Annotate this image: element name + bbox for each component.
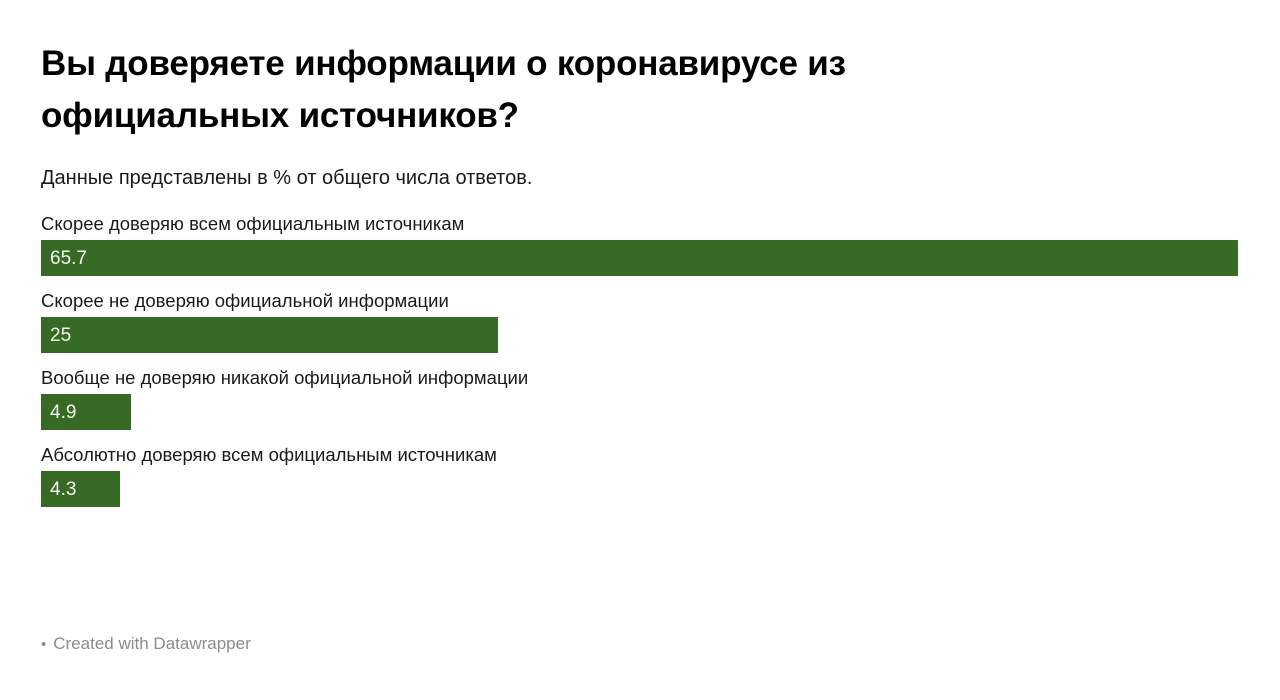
bar-fill[interactable]: 65.7 <box>41 240 1238 276</box>
bar-row: Абсолютно доверяю всем официальным источ… <box>41 442 1239 507</box>
bar-value-label: 65.7 <box>50 249 87 268</box>
bar-series: Скорее доверяю всем официальным источник… <box>41 211 1239 507</box>
bar-track: 4.3 <box>41 471 1239 507</box>
bar-track: 4.9 <box>41 394 1239 430</box>
bar-value-label: 4.3 <box>50 480 76 499</box>
bar-track: 25 <box>41 317 1239 353</box>
bar-category-label: Скорее не доверяю официальной информации <box>41 288 1239 313</box>
bar-category-label: Вообще не доверяю никакой официальной ин… <box>41 365 1239 390</box>
chart-title: Вы доверяете информации о коронавирусе и… <box>41 0 1081 142</box>
bar-value-label: 25 <box>50 326 71 345</box>
bar-category-label: Скорее доверяю всем официальным источник… <box>41 211 1239 236</box>
bar-category-label: Абсолютно доверяю всем официальным источ… <box>41 442 1239 467</box>
chart-container: Вы доверяете информации о коронавирусе и… <box>0 0 1280 700</box>
bar-fill[interactable]: 4.9 <box>41 394 131 430</box>
bar-fill[interactable]: 25 <box>41 317 498 353</box>
datawrapper-credit[interactable]: Created with Datawrapper <box>53 632 250 656</box>
chart-subtitle: Данные представлены в % от общего числа … <box>41 142 1239 191</box>
bar-row: Скорее доверяю всем официальным источник… <box>41 211 1239 276</box>
bullet-icon: • <box>41 637 46 652</box>
bar-fill[interactable]: 4.3 <box>41 471 120 507</box>
bar-row: Вообще не доверяю никакой официальной ин… <box>41 365 1239 430</box>
bar-row: Скорее не доверяю официальной информации… <box>41 288 1239 353</box>
bar-track: 65.7 <box>41 240 1239 276</box>
chart-footer: • Created with Datawrapper <box>41 632 251 656</box>
bar-value-label: 4.9 <box>50 403 76 422</box>
